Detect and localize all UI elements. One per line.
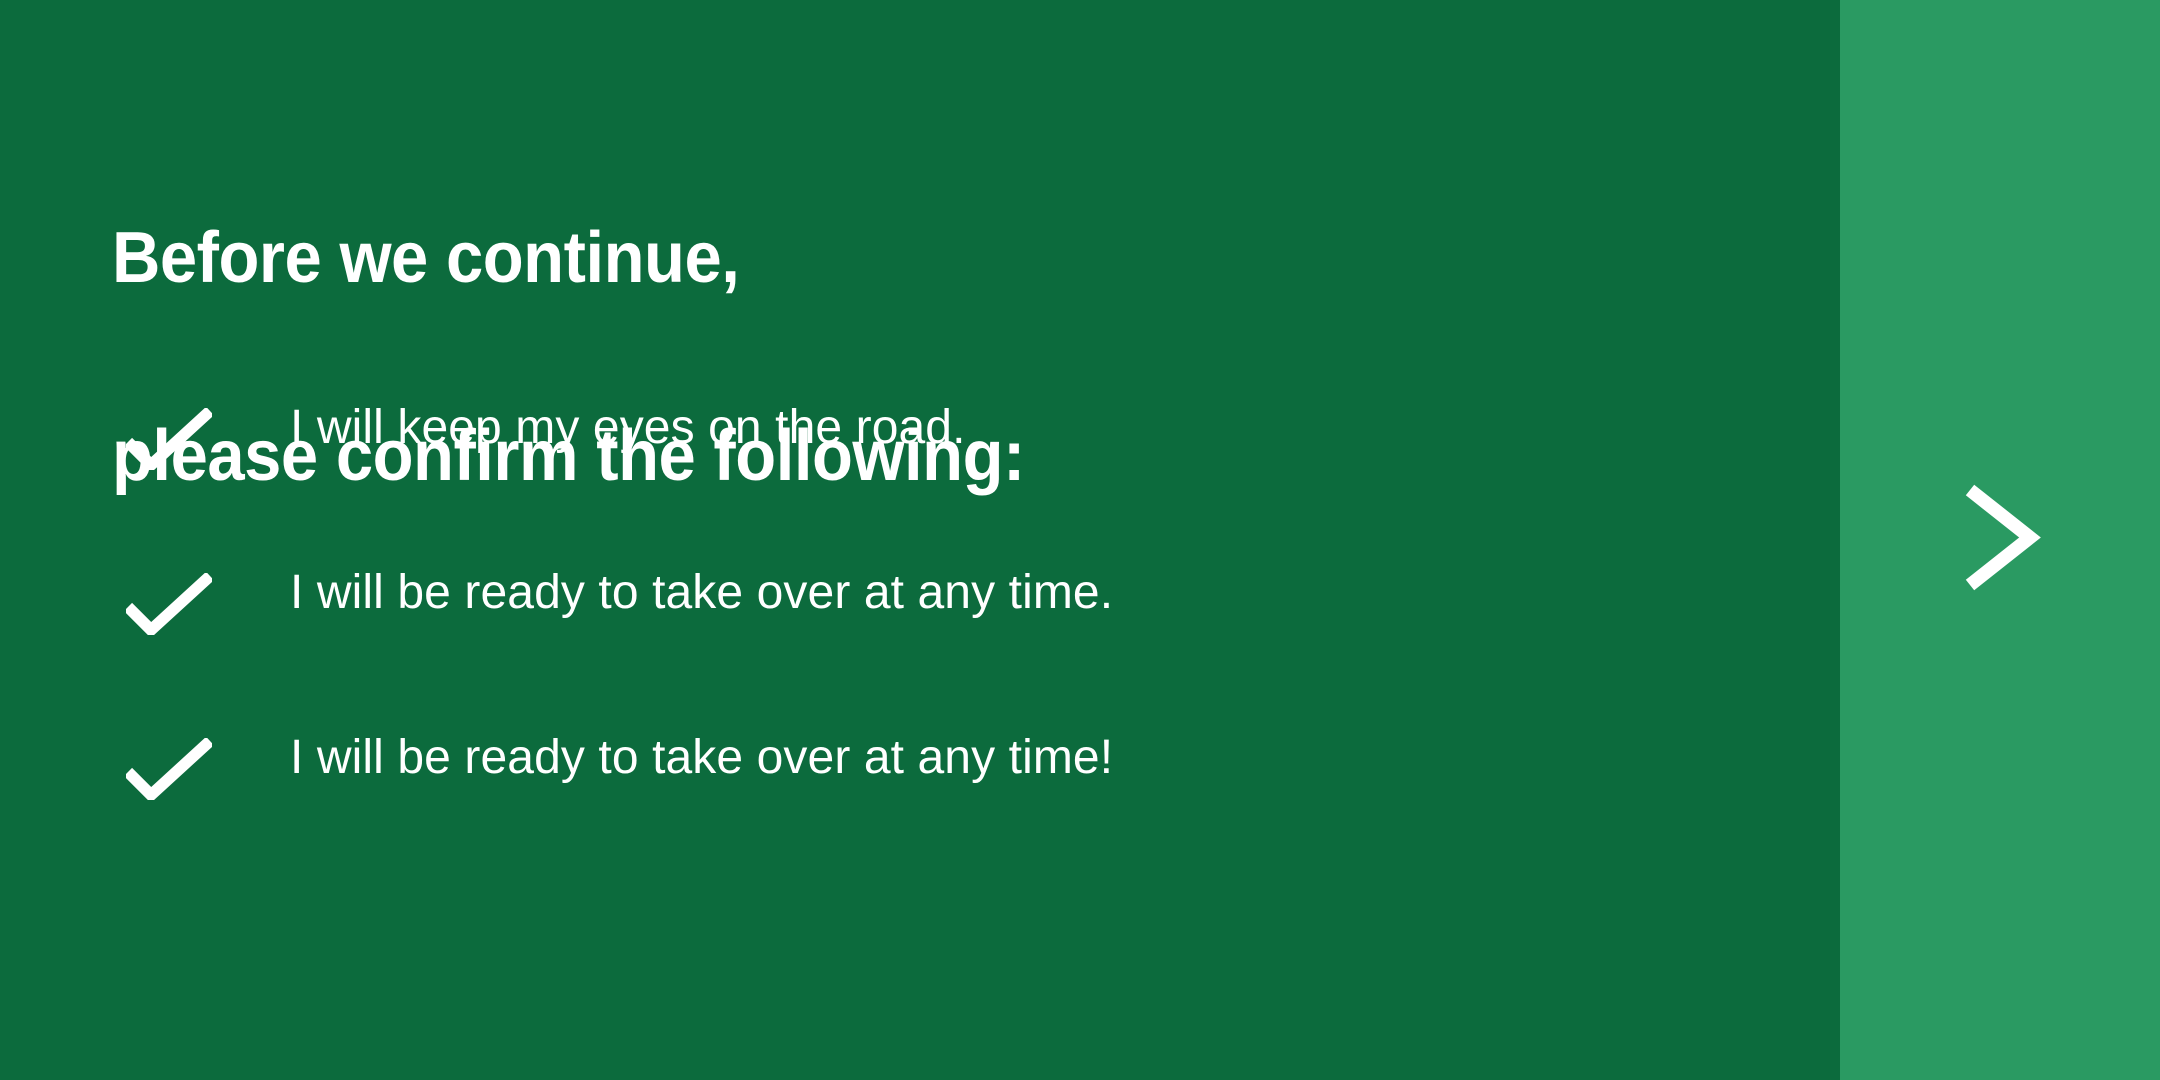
checklist-item-label: I will be ready to take over at any time…: [290, 726, 1113, 790]
checklist-item[interactable]: I will be ready to take over at any time…: [112, 726, 1732, 891]
checklist-item[interactable]: I will be ready to take over at any time…: [112, 561, 1732, 726]
checklist-item-label: I will keep my eyes on the road.: [290, 396, 966, 460]
page-title-line-1: Before we continue,: [112, 209, 1600, 308]
next-button[interactable]: [1940, 460, 2060, 615]
chevron-right-icon: [1940, 460, 2060, 615]
confirmation-checklist: I will keep my eyes on the road. I will …: [112, 396, 1732, 891]
check-icon: [126, 573, 212, 635]
confirmation-screen: Before we continue, please confirm the f…: [0, 0, 2160, 1080]
check-icon: [126, 408, 212, 470]
check-icon: [126, 738, 212, 800]
checklist-item[interactable]: I will keep my eyes on the road.: [112, 396, 1732, 561]
checklist-item-label: I will be ready to take over at any time…: [290, 561, 1113, 625]
